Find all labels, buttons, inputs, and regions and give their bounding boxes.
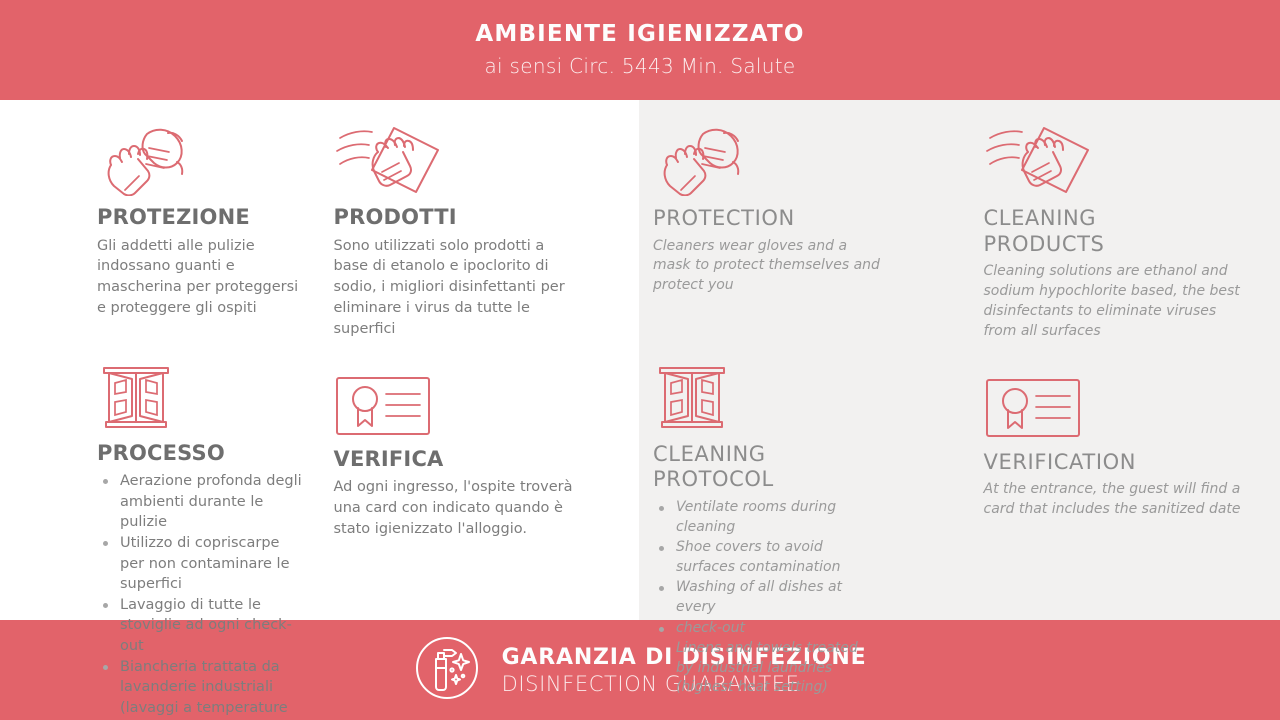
header-banner: AMBIENTE IGIENIZZATO ai sensi Circ. 5443…: [0, 0, 1280, 100]
certificate-card-icon: [334, 366, 626, 438]
section-protezione: PROTEZIONE Gli addetti alle pulizie indo…: [0, 100, 320, 340]
list-item: Washing of all dishes at every: [653, 578, 877, 617]
italian-panel: PROTEZIONE Gli addetti alle pulizie indo…: [0, 100, 639, 620]
list-item: Utilizzo di copriscarpe per non contamin…: [97, 533, 306, 594]
section-heading: CLEANING PRODUCTS: [984, 206, 1164, 257]
section-text: Cleaners wear gloves and a mask to prote…: [653, 237, 885, 297]
open-window-icon: [653, 362, 946, 432]
header-title: AMBIENTE IGIENIZZATO: [475, 22, 804, 47]
protocol-bullet-list: Ventilate rooms during cleaning Shoe cov…: [653, 498, 877, 698]
list-item: Ventilate rooms during cleaning: [653, 498, 877, 537]
section-cleaning-protocol: CLEANING PROTOCOL Ventilate rooms during…: [639, 342, 960, 699]
list-item: check-out: [653, 619, 877, 639]
process-bullet-list: Aerazione profonda degli ambienti durant…: [97, 471, 306, 720]
section-heading: PROTECTION: [653, 206, 946, 232]
gloves-and-mask-icon: [97, 120, 306, 196]
content-area: PROTEZIONE Gli addetti alle pulizie indo…: [0, 100, 1280, 620]
list-item: Lavaggio di tutte le stoviglie ad ogni c…: [97, 595, 306, 656]
list-item: Aerazione profonda degli ambienti durant…: [97, 471, 306, 532]
section-text: Gli addetti alle pulizie indossano guant…: [97, 236, 306, 320]
list-item: Linens and towels treated by industrial …: [653, 639, 877, 698]
section-heading: VERIFICA: [334, 448, 626, 472]
section-prodotti: PRODOTTI Sono utilizzati solo prodotti a…: [320, 100, 640, 340]
english-panel: PROTECTION Cleaners wear gloves and a ma…: [639, 100, 1280, 620]
section-protection: PROTECTION Cleaners wear gloves and a ma…: [639, 100, 960, 342]
open-window-icon: [97, 362, 306, 432]
header-subtitle: ai sensi Circ. 5443 Min. Salute: [484, 54, 795, 78]
section-text: Cleaning solutions are ethanol and sodiu…: [984, 262, 1242, 342]
list-item: Shoe covers to avoid surfaces contaminat…: [653, 538, 877, 577]
section-verifica: VERIFICA Ad ogni ingresso, l'ospite trov…: [320, 340, 640, 720]
section-text: Sono utilizzati solo prodotti a base di …: [334, 236, 582, 340]
section-heading: PROTEZIONE: [97, 206, 306, 230]
section-processo: PROCESSO Aerazione profonda degli ambien…: [0, 340, 320, 720]
list-item: Biancheria trattata da lavanderie indust…: [97, 657, 306, 720]
section-heading: VERIFICATION: [984, 450, 1267, 476]
hand-wiping-cloth-icon: [334, 120, 626, 196]
certificate-card-icon: [984, 368, 1267, 440]
sanitized-environment-poster: AMBIENTE IGIENIZZATO ai sensi Circ. 5443…: [0, 0, 1280, 720]
hand-wiping-cloth-icon: [984, 120, 1267, 196]
section-verification: VERIFICATION At the entrance, the guest …: [960, 342, 1280, 699]
gloves-and-mask-icon: [653, 120, 946, 196]
section-heading: PRODOTTI: [334, 206, 626, 230]
section-cleaning-products: CLEANING PRODUCTS Cleaning solutions are…: [960, 100, 1280, 342]
section-heading: PROCESSO: [97, 442, 306, 466]
section-heading: CLEANING PROTOCOL: [653, 442, 813, 493]
section-text: At the entrance, the guest will find a c…: [984, 480, 1242, 520]
section-text: Ad ogni ingresso, l'ospite troverà una c…: [334, 477, 582, 540]
